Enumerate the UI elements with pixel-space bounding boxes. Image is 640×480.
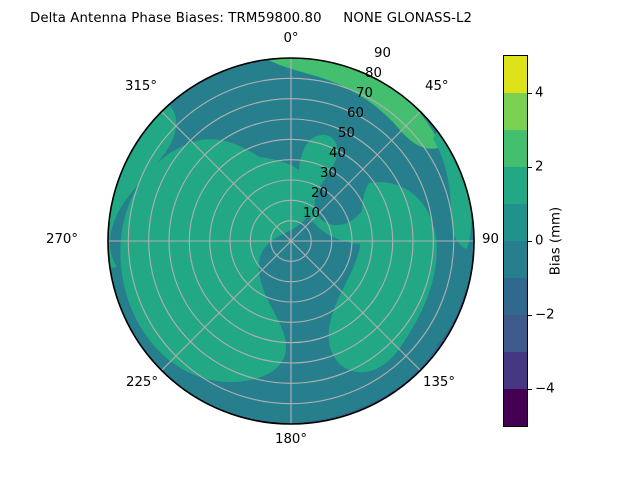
colorbar-tick-mark [528, 93, 532, 94]
colorbar-band [504, 204, 527, 241]
colorbar-band [504, 278, 527, 315]
colorbar-band [504, 167, 527, 204]
radial-tick-60: 60 [347, 106, 364, 121]
colorbar-band [504, 241, 527, 278]
radial-tick-90: 90 [374, 46, 391, 61]
colorbar-tick-mark [528, 389, 532, 390]
colorbar-axis-label: Bias (mm) [549, 207, 564, 275]
angle-tick-135: 135° [423, 375, 455, 390]
colorbar-tick-label: 4 [535, 86, 543, 101]
angle-tick-90: 90 [482, 232, 499, 247]
colorbar-band [504, 93, 527, 130]
colorbar-band [504, 389, 527, 426]
colorbar-band [504, 352, 527, 389]
radial-tick-80: 80 [365, 66, 382, 81]
polar-grid-spokes [108, 58, 474, 424]
angle-tick-45: 45° [425, 79, 449, 94]
colorbar-tick-label: −4 [535, 381, 555, 396]
angle-tick-0: 0° [283, 31, 298, 46]
colorbar-tick-label: 0 [535, 234, 543, 249]
radial-tick-20: 20 [311, 186, 328, 201]
angle-tick-315: 315° [125, 79, 157, 94]
radial-tick-10: 10 [303, 206, 320, 221]
colorbar-band [504, 315, 527, 352]
radial-tick-30: 30 [320, 166, 337, 181]
colorbar-band [504, 56, 527, 93]
radial-tick-40: 40 [329, 146, 346, 161]
page-title: Delta Antenna Phase Biases: TRM59800.80 … [30, 11, 472, 26]
radial-tick-70: 70 [356, 86, 373, 101]
colorbar-tick-label: −2 [535, 307, 555, 322]
colorbar-tick-mark [528, 167, 532, 168]
radial-tick-50: 50 [338, 126, 355, 141]
colorbar-band [504, 130, 527, 167]
colorbar-tick-label: 2 [535, 160, 543, 175]
figure-canvas: Delta Antenna Phase Biases: TRM59800.80 … [0, 0, 640, 480]
polar-axes: 0° 45° 90 135° 180° 225° 270° 315° 10 20… [107, 57, 475, 425]
colorbar-tick-mark [528, 241, 532, 242]
colorbar-tick-mark [528, 315, 532, 316]
colorbar[interactable]: −4−2024 [503, 55, 528, 427]
polar-plot-svg [107, 57, 475, 425]
angle-tick-180: 180° [275, 432, 307, 447]
angle-tick-225: 225° [126, 375, 158, 390]
colorbar-gradient[interactable] [503, 55, 528, 427]
angle-tick-270: 270° [46, 232, 78, 247]
